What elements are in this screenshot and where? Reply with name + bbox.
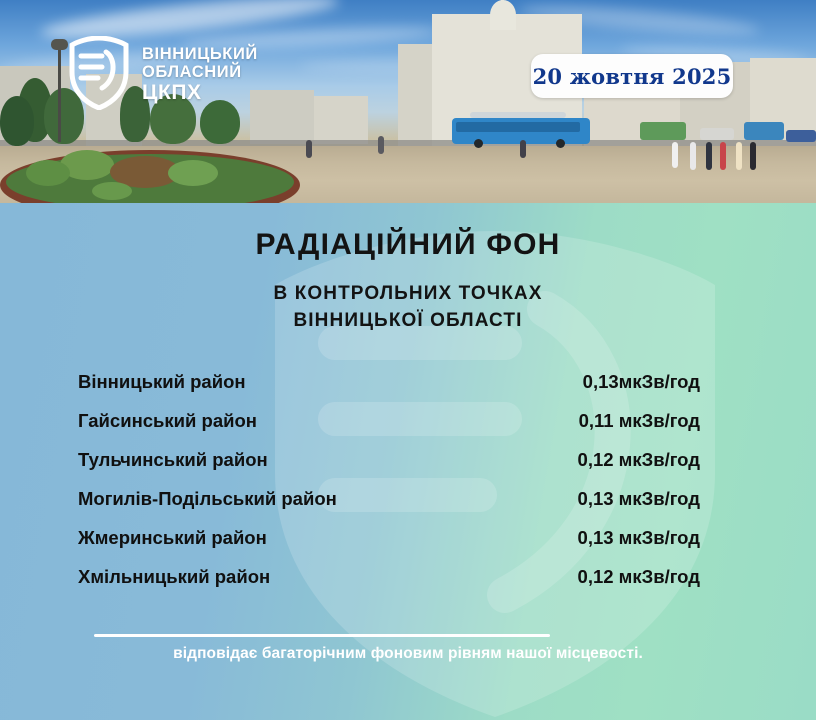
pedestrian-decor <box>520 140 526 158</box>
pedestrian-decor <box>306 140 312 158</box>
district-value: 0,13мкЗв/год <box>583 371 700 393</box>
date-badge-text: 20 жовтня 2025 <box>533 64 732 89</box>
pedestrian-decor <box>690 142 696 170</box>
city-photo-banner: ВІННИЦЬКИЙ ОБЛАСНИЙ ЦКПХ <box>0 0 816 204</box>
table-row: Хмільницький район 0,12 мкЗв/год <box>78 566 700 605</box>
street-lamp-decor <box>58 46 61 142</box>
table-row: Жмеринський район 0,13 мкЗв/год <box>78 527 700 566</box>
organization-logo: ВІННИЦЬКИЙ ОБЛАСНИЙ ЦКПХ <box>68 36 258 115</box>
footer-separator <box>94 634 550 637</box>
pedestrian-decor <box>706 142 712 170</box>
building-decor <box>250 90 314 144</box>
page-title: РАДІАЦІЙНИЙ ФОН <box>0 228 816 262</box>
logo-line-3: ЦКПХ <box>142 82 258 105</box>
dome-decor <box>490 0 516 30</box>
shield-logo-icon <box>68 36 130 115</box>
date-badge: 20 жовтня 2025 <box>531 54 733 98</box>
blue-bus-decor <box>744 122 784 140</box>
car-decor <box>786 130 816 142</box>
district-name: Тульчинський район <box>78 449 268 471</box>
building-decor <box>314 96 368 144</box>
district-value: 0,12 мкЗв/год <box>578 566 700 588</box>
district-name: Жмеринський район <box>78 527 267 549</box>
bush-decor <box>168 160 218 186</box>
bush-decor <box>26 160 70 186</box>
table-row: Тульчинський район 0,12 мкЗв/год <box>78 449 700 488</box>
logo-line-2: ОБЛАСНИЙ <box>142 64 258 82</box>
page-subtitle-line-2: ВІННИЦЬКОЇ ОБЛАСТІ <box>0 310 816 332</box>
district-name: Хмільницький район <box>78 566 270 588</box>
tree-decor <box>0 96 34 146</box>
district-name: Гайсинський район <box>78 410 257 432</box>
district-value: 0,13 мкЗв/год <box>578 527 700 549</box>
bush-decor <box>92 182 132 200</box>
measurements-table: Вінницький район 0,13мкЗв/год Гайсинськи… <box>78 371 700 605</box>
pedestrian-decor <box>720 142 726 170</box>
logo-line-1: ВІННИЦЬКИЙ <box>142 46 258 64</box>
district-name: Могилів-Подільський район <box>78 488 337 510</box>
green-bus-decor <box>640 122 686 140</box>
district-value: 0,13 мкЗв/год <box>578 488 700 510</box>
table-row: Могилів-Подільський район 0,13 мкЗв/год <box>78 488 700 527</box>
radiation-background-poster: ВІННИЦЬКИЙ ОБЛАСНИЙ ЦКПХ 20 жовтня 2025 … <box>0 0 816 720</box>
footer-note: відповідає багаторічним фоновим рівням н… <box>0 645 816 663</box>
car-decor <box>700 128 734 140</box>
pedestrian-decor <box>378 136 384 154</box>
pedestrian-decor <box>672 142 678 168</box>
table-row: Гайсинський район 0,11 мкЗв/год <box>78 410 700 449</box>
district-value: 0,12 мкЗв/год <box>578 449 700 471</box>
district-name: Вінницький район <box>78 371 246 393</box>
pedestrian-decor <box>750 142 756 170</box>
pedestrian-decor <box>736 142 742 170</box>
page-subtitle-line-1: В КОНТРОЛЬНИХ ТОЧКАХ <box>0 283 816 305</box>
table-row: Вінницький район 0,13мкЗв/год <box>78 371 700 410</box>
district-value: 0,11 мкЗв/год <box>579 410 700 432</box>
